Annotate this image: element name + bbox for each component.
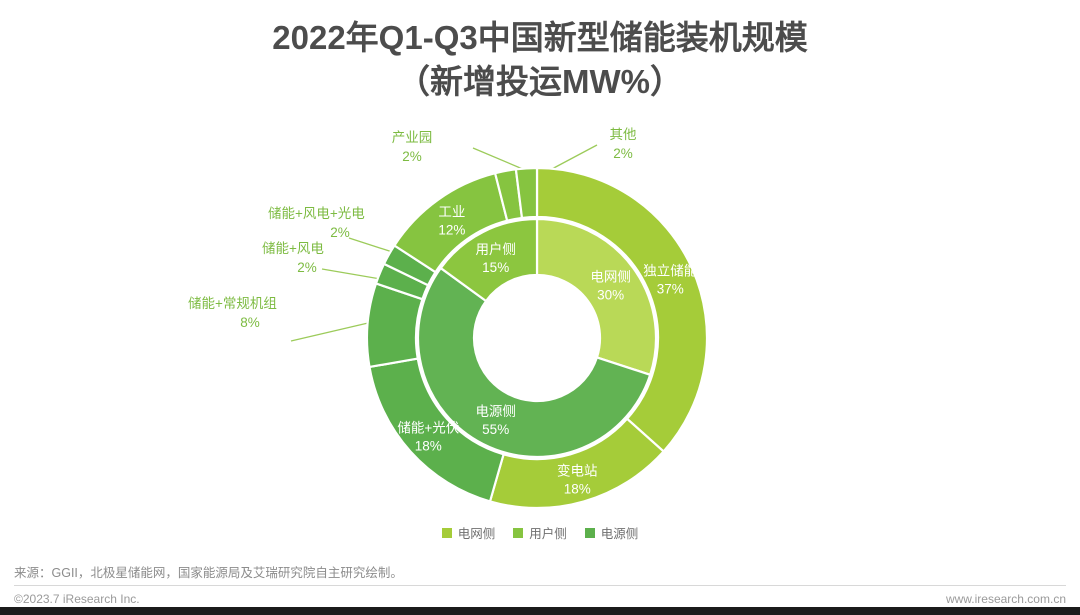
chart-legend: 电网侧 用户侧 电源侧: [0, 523, 1080, 542]
callout-label-windpv-name: 储能+风电+光电: [268, 206, 365, 221]
inner-label-user-pct: 15%: [482, 260, 509, 275]
leader-line-conv: [291, 323, 368, 341]
page-title: 2022年Q1-Q3中国新型储能装机规模 （新增投运MW%）: [0, 16, 1080, 104]
title-line-1: 2022年Q1-Q3中国新型储能装机规模: [0, 16, 1080, 60]
legend-label-source: 电源侧: [601, 523, 639, 542]
callout-label-park-pct: 2%: [402, 149, 422, 164]
legend-item-grid[interactable]: 电网侧: [442, 523, 496, 542]
callout-label-wind-name: 储能+风电: [262, 241, 324, 256]
legend-swatch-source-icon: [585, 528, 595, 538]
legend-item-source[interactable]: 电源侧: [585, 523, 639, 542]
title-line-2: （新增投运MW%）: [0, 60, 1080, 104]
callout-label-windpv-pct: 2%: [330, 225, 350, 240]
legend-label-user: 用户侧: [529, 523, 567, 542]
outer-label-pv-name: 储能+光伏: [397, 421, 459, 436]
callout-label-other-pct: 2%: [613, 146, 633, 161]
callout-label-park-name: 产业园: [392, 130, 433, 145]
outer-label-substation-name: 变电站: [557, 463, 598, 478]
inner-label-grid-pct: 30%: [597, 288, 624, 303]
leader-line-park: [473, 148, 525, 170]
donut-svg: 电网侧 30% 电源侧 55% 用户侧 15% 独立储能 37% 变电站 18%…: [0, 118, 1080, 518]
footer-divider: [14, 585, 1066, 586]
callout-label-other-name: 其他: [610, 127, 637, 142]
legend-swatch-grid-icon: [442, 528, 452, 538]
outer-label-independent-pct: 37%: [657, 282, 684, 297]
inner-label-user-name: 用户侧: [475, 241, 516, 257]
copyright-text: ©2023.7 iResearch Inc.: [14, 592, 140, 606]
legend-swatch-user-icon: [513, 528, 523, 538]
inner-label-source-pct: 55%: [482, 422, 509, 437]
website-link[interactable]: www.iresearch.com.cn: [946, 592, 1066, 606]
callout-label-conventional-name: 储能+常规机组: [188, 296, 277, 311]
outer-label-independent-name: 独立储能: [643, 264, 697, 279]
outer-label-industry-pct: 12%: [438, 222, 465, 237]
outer-label-substation-pct: 18%: [564, 481, 591, 496]
inner-label-source-name: 电源侧: [475, 404, 516, 419]
leader-line-other: [550, 145, 597, 170]
outer-label-pv-pct: 18%: [415, 439, 442, 454]
legend-item-user[interactable]: 用户侧: [513, 523, 567, 542]
legend-label-grid: 电网侧: [458, 523, 496, 542]
outer-label-industry-name: 工业: [438, 204, 465, 219]
bottom-bar: [0, 607, 1080, 615]
source-note: 来源：GGII，北极星储能网，国家能源局及艾瑞研究院自主研究绘制。: [14, 562, 403, 581]
inner-label-grid-name: 电网侧: [590, 270, 631, 285]
callout-label-conventional-pct: 8%: [240, 315, 260, 330]
nested-donut-chart: 电网侧 30% 电源侧 55% 用户侧 15% 独立储能 37% 变电站 18%…: [0, 118, 1080, 518]
callout-label-wind-pct: 2%: [297, 260, 317, 275]
